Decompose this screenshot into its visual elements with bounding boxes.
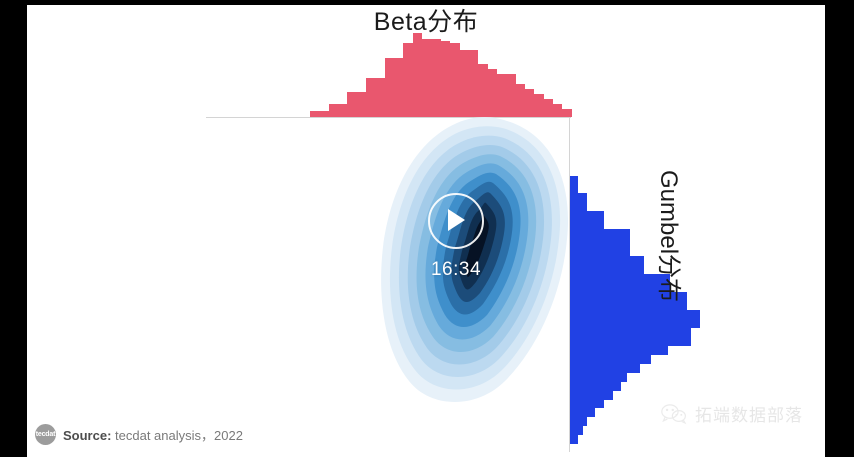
play-triangle-icon — [448, 209, 465, 231]
source-footer: tecdat Source: tecdat analysis，2022 — [35, 424, 243, 445]
source-value: tecdat analysis，2022 — [115, 428, 243, 443]
figure-canvas: Beta分布 — [27, 5, 825, 457]
letterbox-top — [0, 0, 854, 5]
source-text: Source: tecdat analysis，2022 — [63, 425, 243, 444]
page-title: Beta分布 — [27, 10, 825, 35]
source-label: Source: — [63, 428, 111, 443]
tecdat-logo-icon: tecdat — [35, 424, 56, 445]
video-play-overlay[interactable]: 16:34 — [396, 193, 516, 291]
beta-marginal-histogram — [206, 33, 571, 117]
play-icon[interactable] — [428, 193, 484, 249]
video-frame: Beta分布 — [0, 0, 854, 457]
histogram-bar — [570, 435, 578, 445]
wechat-icon — [661, 403, 687, 425]
video-duration: 16:34 — [431, 259, 481, 281]
letterbox-right — [825, 0, 854, 457]
y-axis-label: Gumbel分布 — [654, 170, 689, 302]
letterbox-left — [0, 0, 27, 457]
watermark-text: 拓端数据部落 — [695, 401, 803, 426]
watermark: 拓端数据部落 — [661, 401, 803, 426]
